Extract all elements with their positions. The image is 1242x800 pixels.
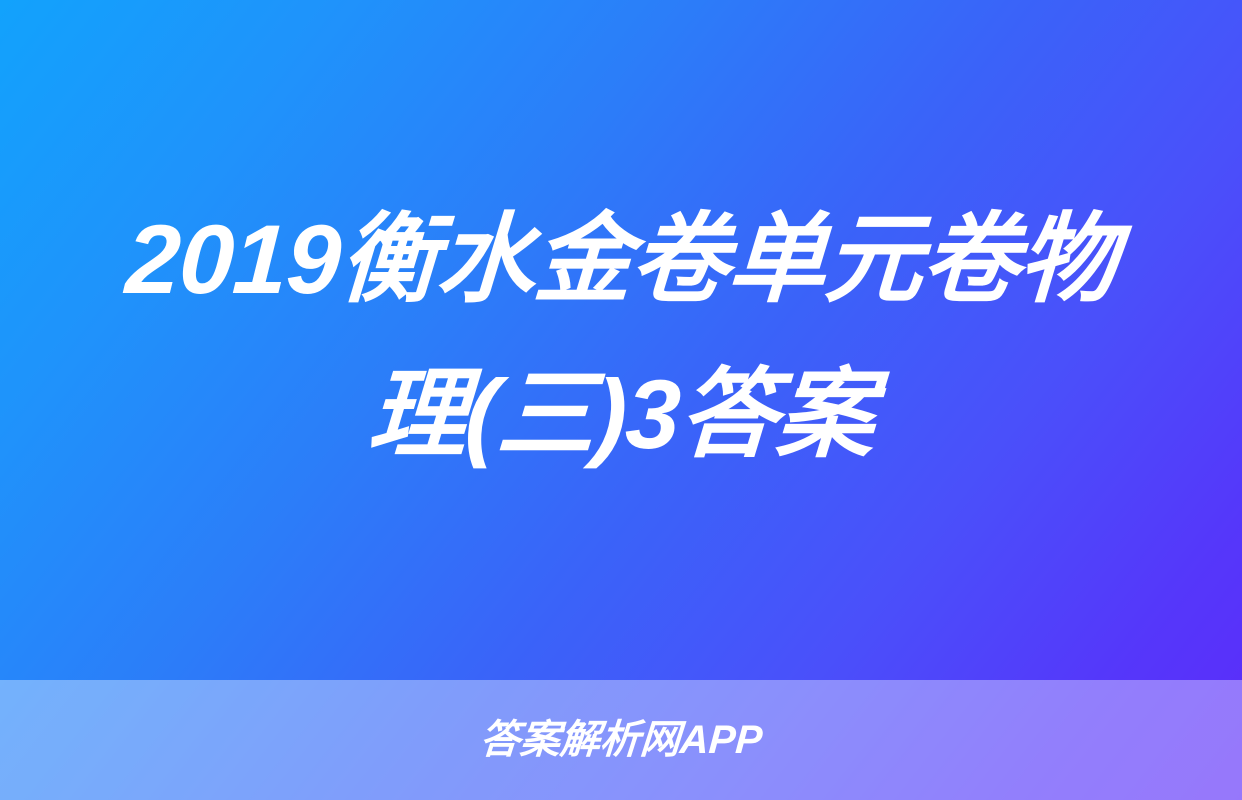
poster-canvas: 2019衡水金卷单元卷物 理(三)3答案 答案解析网APP (0, 0, 1242, 800)
watermark-app-label: 答案解析网APP (478, 720, 763, 760)
watermark-bar: 答案解析网APP (0, 680, 1242, 800)
page-title-line-1: 2019衡水金卷单元卷物 (0, 182, 1242, 337)
title-block: 2019衡水金卷单元卷物 理(三)3答案 (0, 0, 1242, 680)
page-title-line-2: 理(三)3答案 (0, 337, 1242, 492)
